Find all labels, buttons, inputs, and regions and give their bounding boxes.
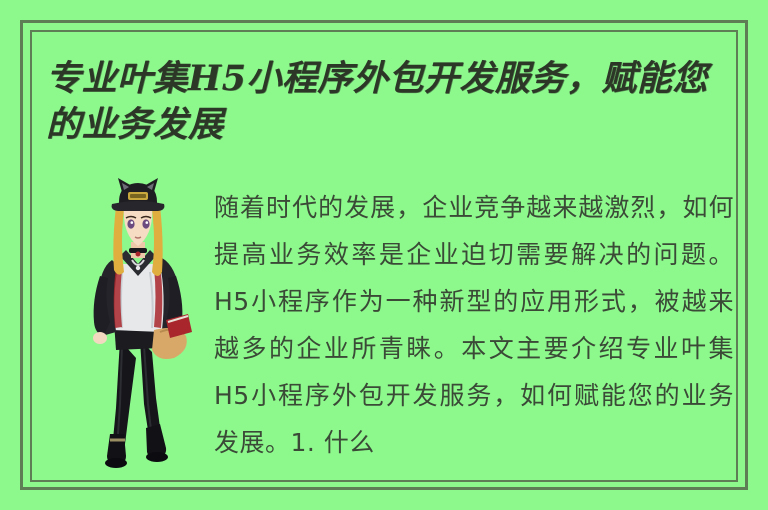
poster-canvas: 专业叶集H5小程序外包开发服务，赋能您的业务发展 (0, 0, 768, 510)
character-illustration-svg (62, 172, 214, 472)
body-paragraph: 随着时代的发展，企业竞争越来越激烈，如何提高业务效率是企业迫切需要解决的问题。H… (214, 184, 734, 466)
page-title: 专业叶集H5小程序外包开发服务，赋能您的业务发展 (46, 56, 722, 148)
character-illustration (62, 172, 214, 472)
